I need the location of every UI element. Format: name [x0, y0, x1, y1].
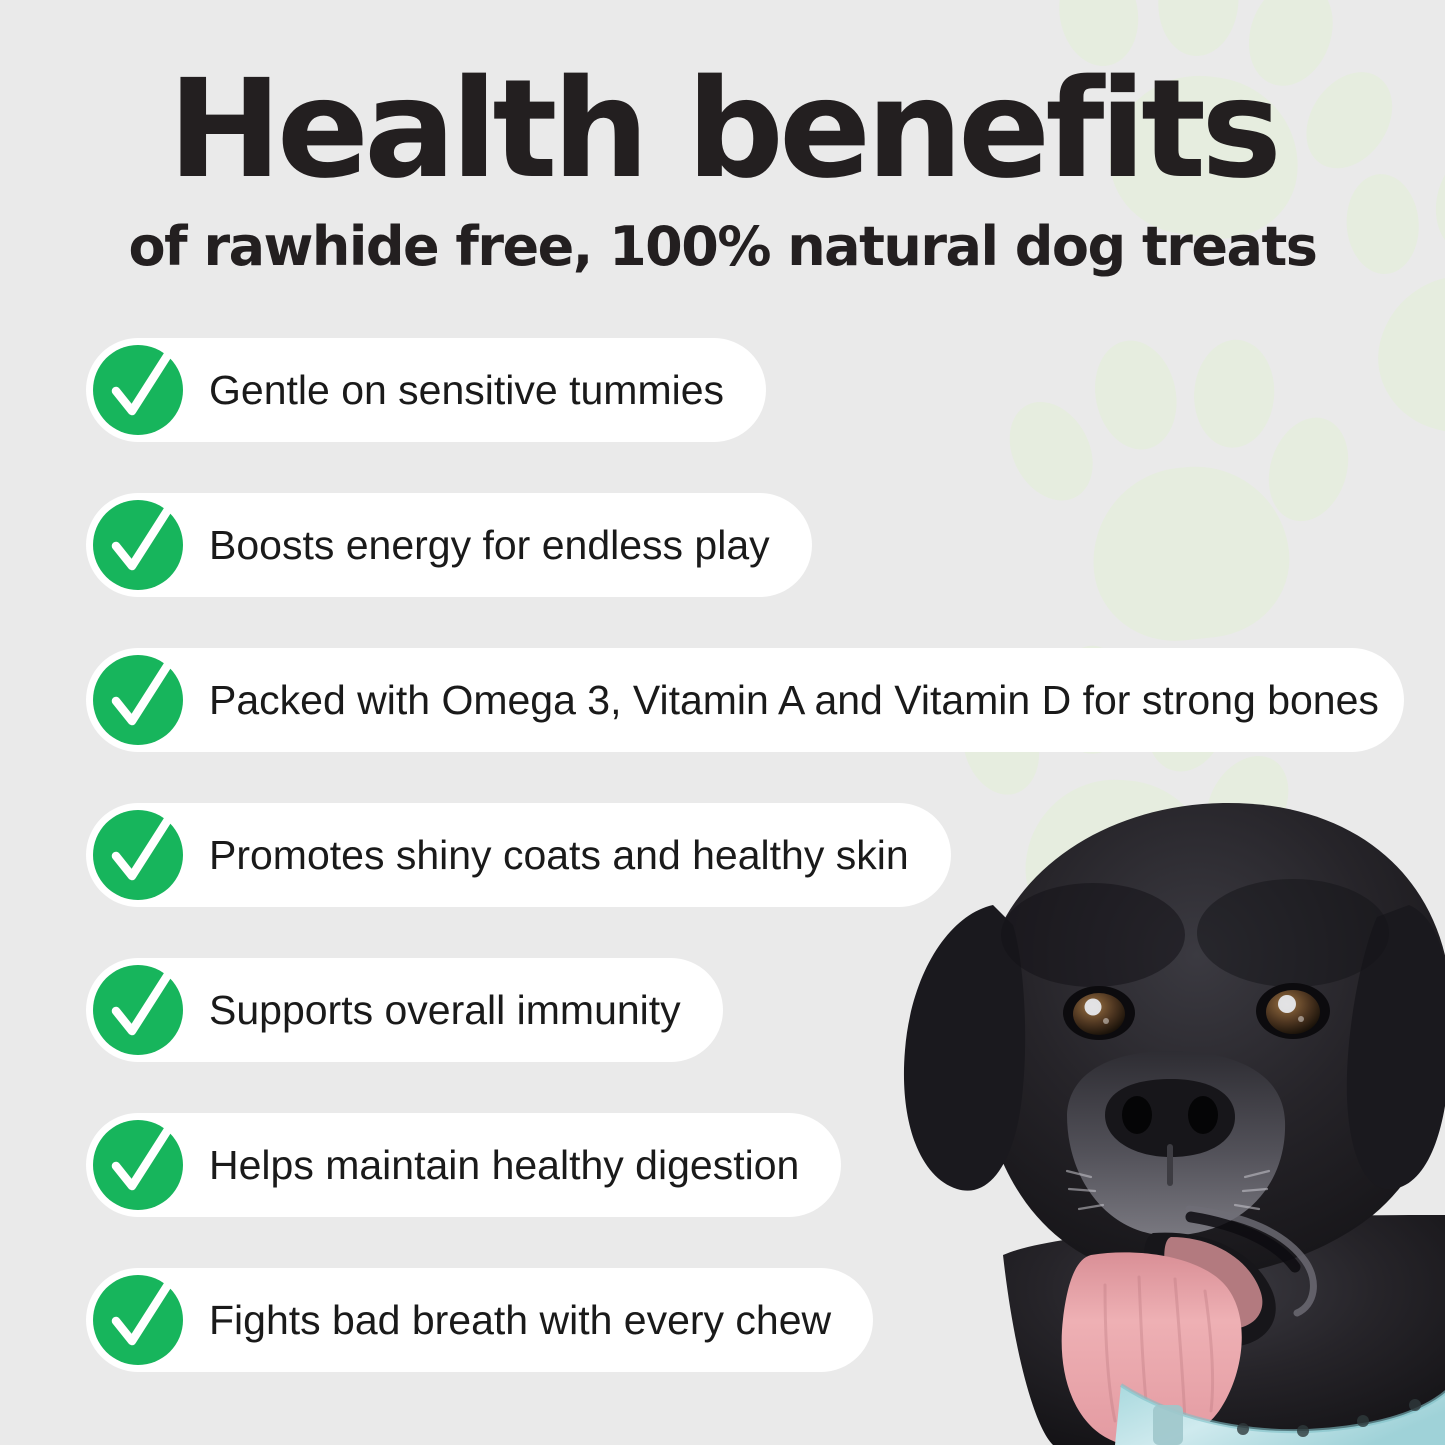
benefit-row: Packed with Omega 3, Vitamin A and Vitam… [86, 648, 1404, 752]
poster-header: Health benefits of rawhide free, 100% na… [0, 0, 1445, 274]
benefit-row: Gentle on sensitive tummies [86, 338, 766, 442]
benefit-label: Gentle on sensitive tummies [209, 367, 724, 414]
benefit-row: Helps maintain healthy digestion [86, 1113, 841, 1217]
health-benefits-poster: Health benefits of rawhide free, 100% na… [0, 0, 1445, 1445]
check-circle-icon [89, 651, 187, 749]
benefit-row: Promotes shiny coats and healthy skin [86, 803, 951, 907]
page-subtitle: of rawhide free, 100% natural dog treats [0, 198, 1445, 274]
check-circle-icon [89, 496, 187, 594]
benefit-label: Promotes shiny coats and healthy skin [209, 832, 909, 879]
benefit-row: Boosts energy for endless play [86, 493, 812, 597]
benefit-label: Helps maintain healthy digestion [209, 1142, 799, 1189]
benefit-label: Packed with Omega 3, Vitamin A and Vitam… [209, 677, 1379, 724]
benefits-list: Gentle on sensitive tummiesBoosts energy… [0, 338, 1445, 1423]
benefit-row: Supports overall immunity [86, 958, 723, 1062]
benefit-row: Fights bad breath with every chew [86, 1268, 873, 1372]
benefit-label: Boosts energy for endless play [209, 522, 770, 569]
check-circle-icon [89, 961, 187, 1059]
page-title: Health benefits [0, 0, 1445, 198]
benefit-label: Fights bad breath with every chew [209, 1297, 831, 1344]
check-circle-icon [89, 341, 187, 439]
check-circle-icon [89, 1271, 187, 1369]
check-circle-icon [89, 806, 187, 904]
benefit-label: Supports overall immunity [209, 987, 681, 1034]
check-circle-icon [89, 1116, 187, 1214]
